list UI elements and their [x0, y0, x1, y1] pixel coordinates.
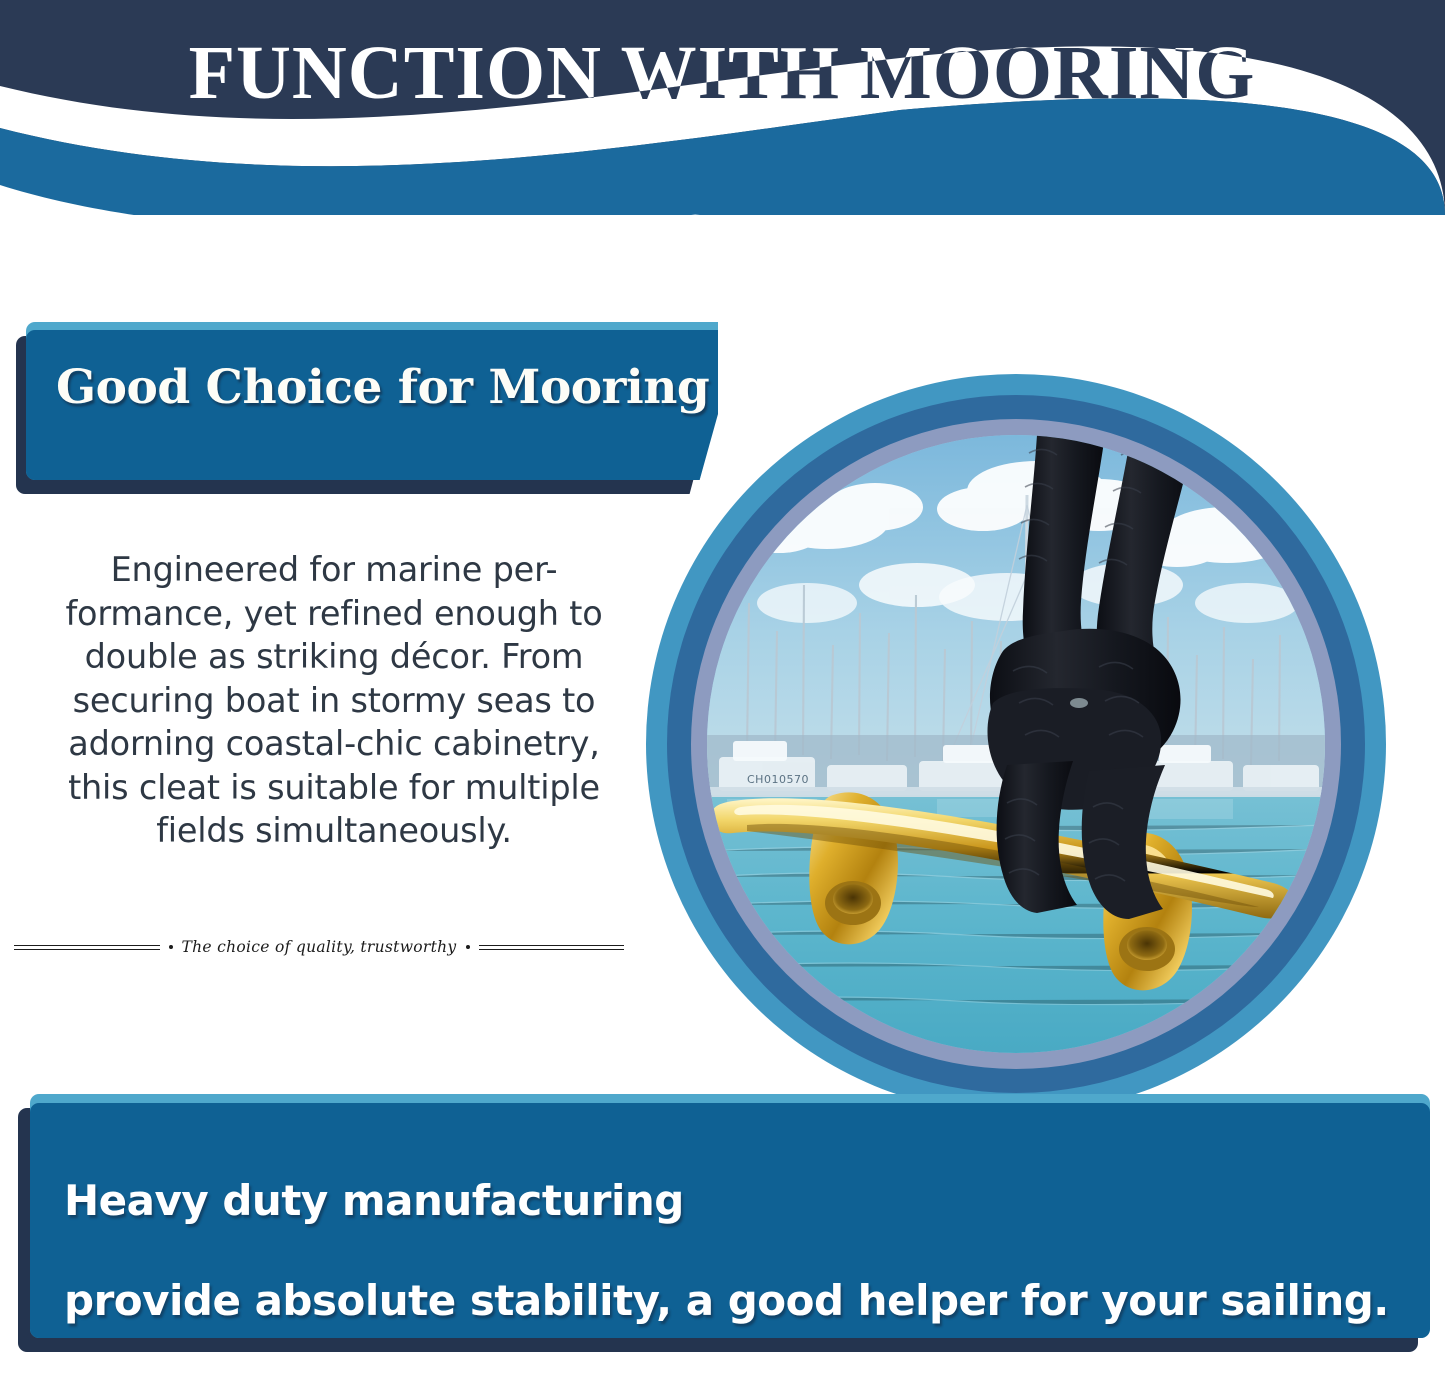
- bottom-banner-line-2: provide absolute stability, a good helpe…: [64, 1276, 1389, 1325]
- product-photo: CH010570: [707, 435, 1325, 1053]
- feature-description: Engineered for marine per-formance, yet …: [36, 548, 632, 853]
- infographic-page: FUNCTION WITH MOORING FUNCTION WITH MOOR…: [0, 0, 1445, 1387]
- divider-rule-left: [14, 945, 160, 950]
- divider-rule-right: [479, 945, 625, 950]
- tagline-divider: The choice of quality, trustworthy: [14, 938, 624, 956]
- tagline-text: The choice of quality, trustworthy: [182, 938, 457, 956]
- header-wave-graphic: [0, 0, 1445, 215]
- header-wave-band: FUNCTION WITH MOORING FUNCTION WITH MOOR…: [0, 0, 1445, 215]
- top-banner-heading: Good Choice for Mooring: [56, 360, 709, 415]
- bottom-banner: Heavy duty manufacturing provide absolut…: [18, 1094, 1430, 1352]
- product-photo-graphic: CH010570: [707, 435, 1325, 1053]
- boat-hull-label: CH010570: [747, 773, 809, 786]
- product-photo-circle: CH010570: [646, 374, 1386, 1114]
- divider-dot-left: [169, 945, 173, 949]
- divider-dot-right: [466, 945, 470, 949]
- bottom-banner-line-1: Heavy duty manufacturing: [64, 1176, 684, 1225]
